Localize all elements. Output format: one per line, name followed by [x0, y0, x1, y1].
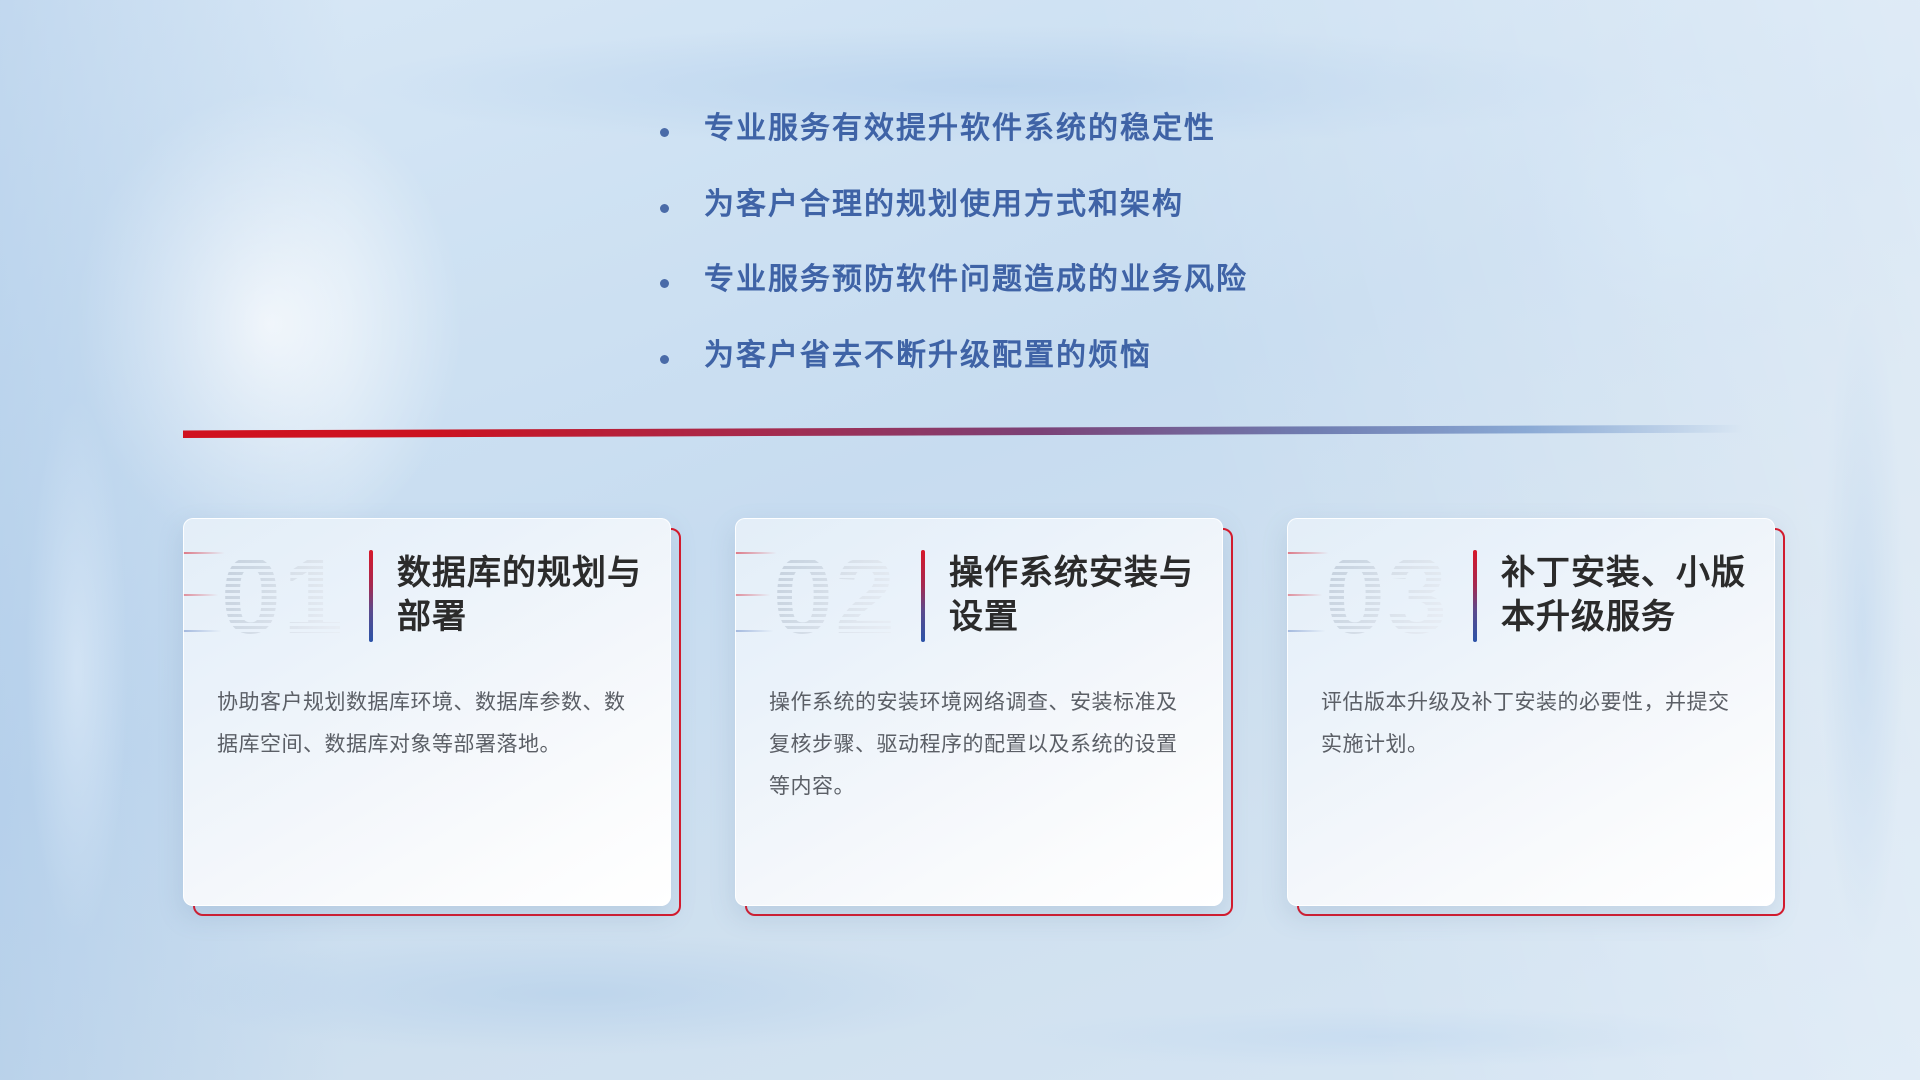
- list-item: 为客户合理的规划使用方式和架构: [660, 186, 1420, 224]
- card-row: 01 数据库的规划与部署 协助客户规划数据库环境、数据库参数、数据库空间、数据库…: [183, 518, 1775, 906]
- card-title-divider-icon: [369, 550, 373, 642]
- card-01[interactable]: 01 数据库的规划与部署 协助客户规划数据库环境、数据库参数、数据库空间、数据库…: [183, 518, 671, 906]
- card-title-divider-icon: [921, 550, 925, 642]
- bullet-dot-icon: [660, 355, 669, 364]
- bullet-dot-icon: [660, 204, 669, 213]
- card-title-divider-icon: [1473, 550, 1477, 642]
- card-header: 03 补丁安装、小版本升级服务: [1287, 518, 1775, 674]
- card-panel: 03 补丁安装、小版本升级服务 评估版本升级及补丁安装的必要性，并提交实施计划。: [1287, 518, 1775, 906]
- card-03[interactable]: 03 补丁安装、小版本升级服务 评估版本升级及补丁安装的必要性，并提交实施计划。: [1287, 518, 1775, 906]
- card-body-text: 协助客户规划数据库环境、数据库参数、数据库空间、数据库对象等部署落地。: [183, 682, 671, 766]
- card-number: 02: [755, 542, 915, 650]
- card-header: 02 操作系统安装与设置: [735, 518, 1223, 674]
- card-title: 补丁安装、小版本升级服务: [1501, 552, 1749, 639]
- card-number: 01: [203, 542, 363, 650]
- card-02[interactable]: 02 操作系统安装与设置 操作系统的安装环境网络调查、安装标准及复核步骤、驱动程…: [735, 518, 1223, 906]
- section-divider: [183, 424, 1743, 438]
- card-panel: 02 操作系统安装与设置 操作系统的安装环境网络调查、安装标准及复核步骤、驱动程…: [735, 518, 1223, 906]
- card-panel: 01 数据库的规划与部署 协助客户规划数据库环境、数据库参数、数据库空间、数据库…: [183, 518, 671, 906]
- list-item: 为客户省去不断升级配置的烦恼: [660, 337, 1420, 375]
- card-body-text: 操作系统的安装环境网络调查、安装标准及复核步骤、驱动程序的配置以及系统的设置等内…: [735, 682, 1223, 808]
- bullet-text: 为客户省去不断升级配置的烦恼: [704, 337, 1152, 375]
- bullet-list: 专业服务有效提升软件系统的稳定性 为客户合理的规划使用方式和架构 专业服务预防软…: [660, 110, 1420, 412]
- bullet-text: 为客户合理的规划使用方式和架构: [704, 186, 1184, 224]
- card-header: 01 数据库的规划与部署: [183, 518, 671, 674]
- bullet-dot-icon: [660, 128, 669, 137]
- bullet-text: 专业服务有效提升软件系统的稳定性: [704, 110, 1216, 148]
- bullet-dot-icon: [660, 279, 669, 288]
- card-title: 操作系统安装与设置: [949, 552, 1197, 639]
- card-body-text: 评估版本升级及补丁安装的必要性，并提交实施计划。: [1287, 682, 1775, 766]
- divider-wedge: [183, 424, 1743, 438]
- list-item: 专业服务有效提升软件系统的稳定性: [660, 110, 1420, 148]
- card-title: 数据库的规划与部署: [397, 552, 645, 639]
- list-item: 专业服务预防软件问题造成的业务风险: [660, 261, 1420, 299]
- bullet-text: 专业服务预防软件问题造成的业务风险: [704, 261, 1248, 299]
- card-number: 03: [1307, 542, 1467, 650]
